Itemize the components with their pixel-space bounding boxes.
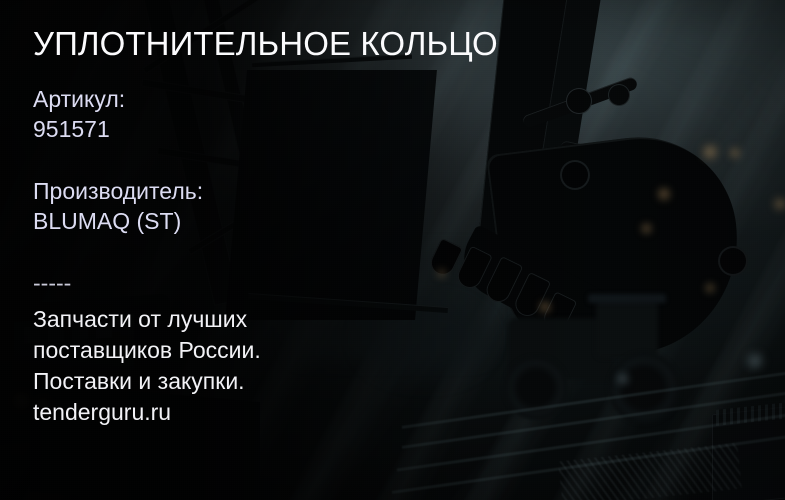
manufacturer-label: Производитель:: [33, 176, 203, 206]
tagline-block: Запчасти от лучших поставщиков России. П…: [33, 304, 261, 428]
banner-content: УПЛОТНИТЕЛЬНОЕ КОЛЬЦО Артикул: 951571 Пр…: [0, 0, 785, 500]
tagline-line-2: поставщиков России.: [33, 335, 261, 366]
article-label: Артикул:: [33, 84, 125, 114]
article-field: Артикул: 951571: [33, 84, 125, 144]
tagline-line-3: Поставки и закупки.: [33, 366, 261, 397]
manufacturer-value: BLUMAQ (ST): [33, 206, 203, 236]
product-banner: УПЛОТНИТЕЛЬНОЕ КОЛЬЦО Артикул: 951571 Пр…: [0, 0, 785, 500]
tagline-line-1: Запчасти от лучших: [33, 304, 261, 335]
product-title: УПЛОТНИТЕЛЬНОЕ КОЛЬЦО: [33, 24, 498, 64]
site-url: tenderguru.ru: [33, 397, 261, 428]
manufacturer-field: Производитель: BLUMAQ (ST): [33, 176, 203, 236]
divider-dashes: -----: [33, 272, 71, 294]
article-value: 951571: [33, 114, 125, 144]
